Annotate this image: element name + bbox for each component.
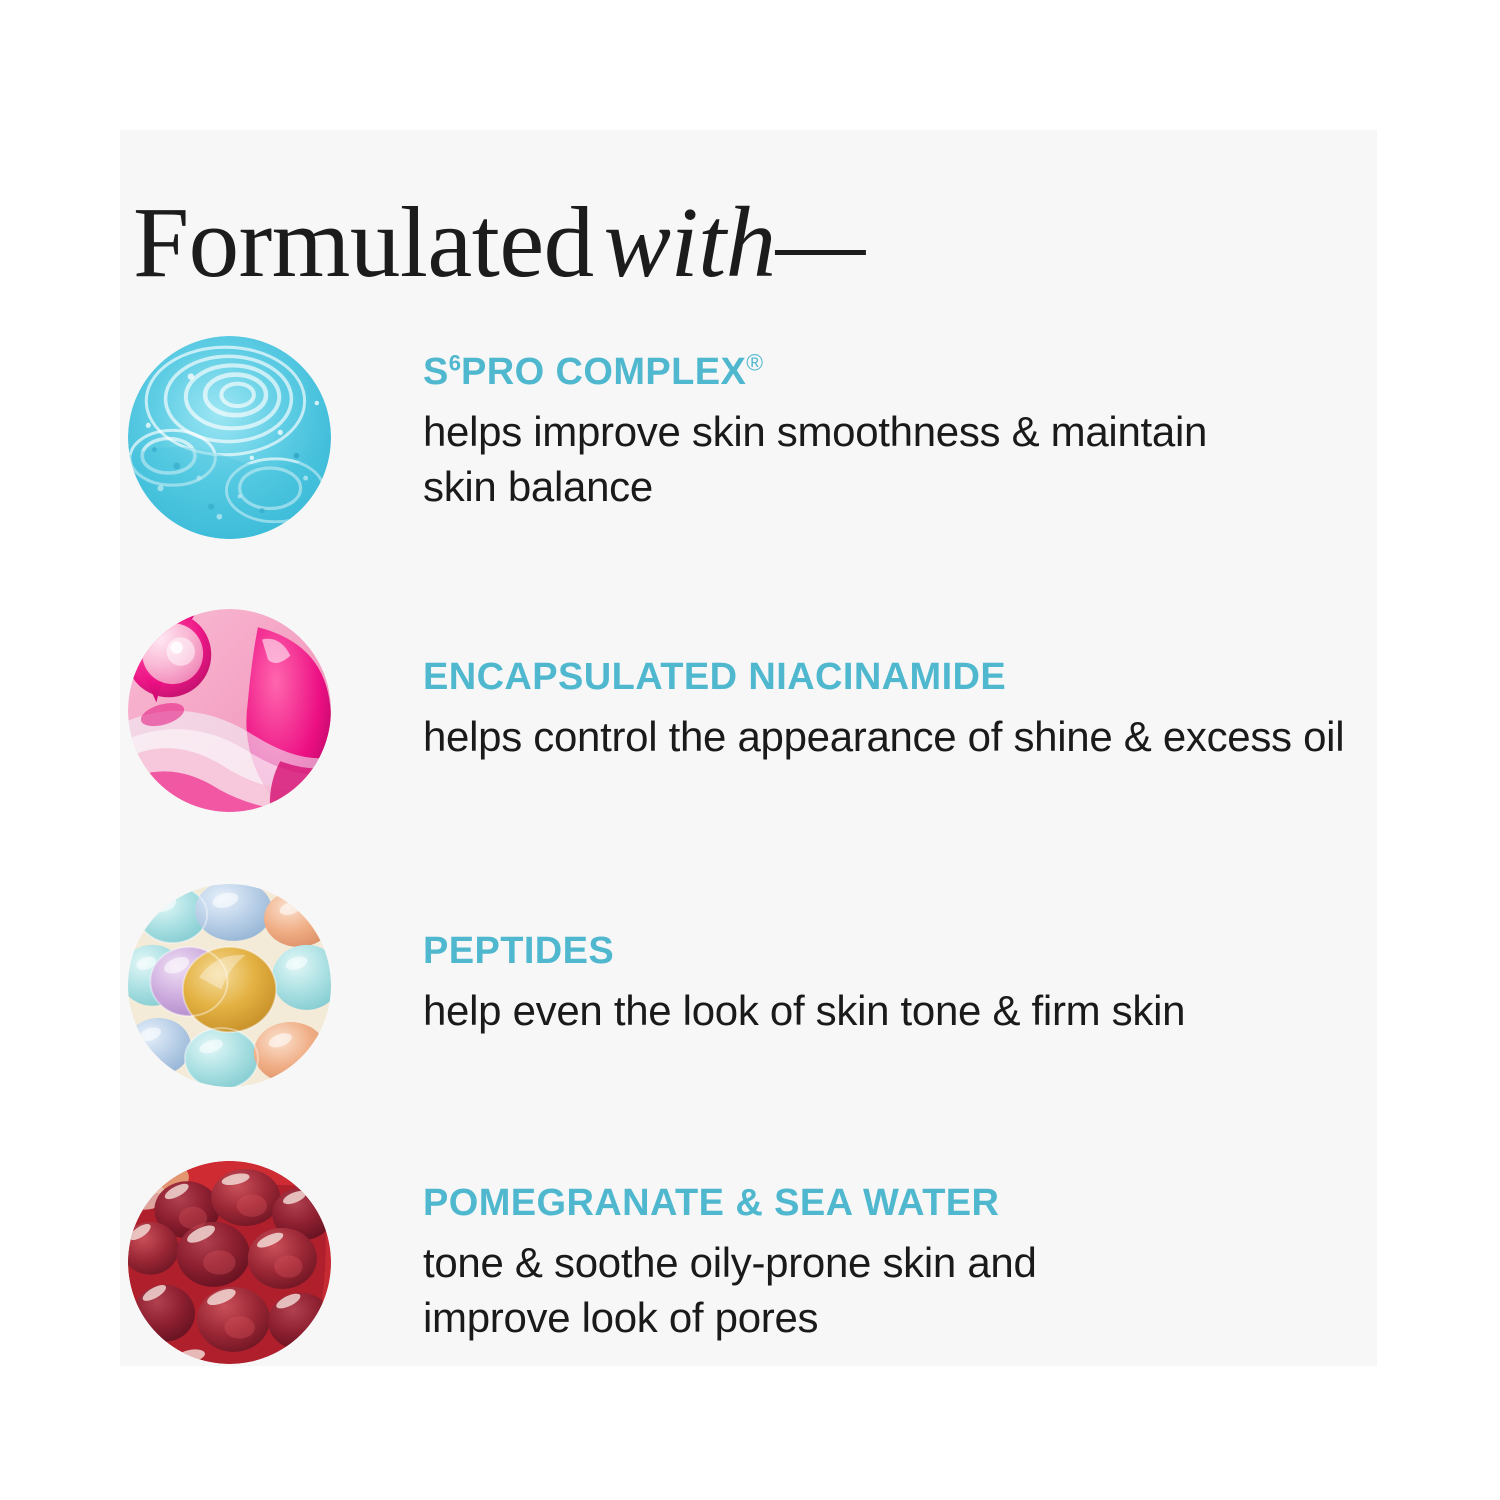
ingredient-title: ENCAPSULATED NIACINAMIDE	[423, 658, 1344, 696]
ingredient-description: helps control the appearance of shine & …	[423, 710, 1344, 765]
registered-trademark-icon: ®	[746, 349, 763, 375]
description-line: help even the look of skin tone & firm s…	[423, 984, 1185, 1039]
ingredient-title: PEPTIDES	[423, 932, 1185, 970]
description-line: helps control the appearance of shine & …	[423, 710, 1344, 765]
description-line: skin balance	[423, 460, 1207, 515]
infographic-page: Formulatedwith—	[0, 0, 1500, 1500]
page-title-roman: Formulated	[133, 186, 594, 298]
ingredient-copy: POMEGRANATE & SEA WATER tone & soothe oi…	[423, 1184, 1037, 1345]
ingredient-description: helps improve skin smoothness & maintain…	[423, 405, 1207, 514]
ingredient-title: S6PRO COMPLEX®	[423, 353, 1207, 391]
blue-gel-swirl-swatch	[128, 336, 331, 539]
ingredient-title-prefix: S	[423, 351, 449, 393]
ingredient-copy: PEPTIDES help even the look of skin tone…	[423, 932, 1185, 1039]
page-title-italic: with—	[594, 186, 865, 298]
description-line: helps improve skin smoothness & maintain	[423, 405, 1207, 460]
description-line: improve look of pores	[423, 1291, 1037, 1346]
ingredient-copy: S6PRO COMPLEX® helps improve skin smooth…	[423, 353, 1207, 514]
ingredient-description: tone & soothe oily-prone skin and improv…	[423, 1236, 1037, 1345]
ingredient-copy: ENCAPSULATED NIACINAMIDE helps control t…	[423, 658, 1344, 765]
ingredient-title-rest: PRO COMPLEX	[461, 351, 746, 393]
pastel-gel-beads-swatch	[128, 884, 331, 1087]
page-title: Formulatedwith—	[133, 192, 865, 293]
ingredient-title-superscript: 6	[449, 350, 461, 375]
pomegranate-arils-swatch	[128, 1161, 331, 1364]
ingredient-title: POMEGRANATE & SEA WATER	[423, 1184, 1037, 1222]
pink-gloss-spheres-swatch	[128, 609, 331, 812]
ingredient-description: help even the look of skin tone & firm s…	[423, 984, 1185, 1039]
description-line: tone & soothe oily-prone skin and	[423, 1236, 1037, 1291]
